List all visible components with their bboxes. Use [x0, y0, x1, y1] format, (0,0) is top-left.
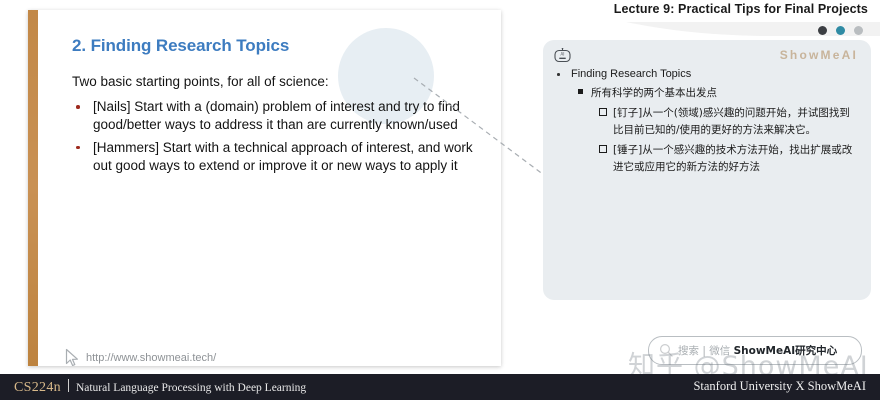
ai-robot-icon: AI	[554, 48, 571, 63]
notes-bullet-square-icon	[578, 89, 583, 94]
status-dots	[818, 26, 870, 38]
slide-title: 2. Finding Research Topics	[72, 36, 289, 56]
slide-bullet-item: [Hammers] Start with a technical approac…	[72, 139, 492, 175]
slide-footer-url[interactable]: http://www.showmeai.tech/	[86, 352, 216, 364]
course-code: CS224n	[14, 380, 61, 396]
slide-accent-bar	[28, 10, 38, 366]
slide-bullet-text: [Nails] Start with a (domain) problem of…	[93, 99, 460, 132]
header-band: Lecture 9: Practical Tips for Final Proj…	[540, 0, 880, 22]
notes-panel: AI ShowMeAI Finding Research Topics 所有科学…	[543, 40, 871, 300]
footer-attribution: Stanford University X ShowMeAI	[693, 379, 866, 394]
notes-level1-text: Finding Research Topics	[571, 68, 691, 80]
notes-bullet-dot-icon	[557, 73, 560, 76]
notes-level3-text: [锤子]从一个感兴趣的技术方法开始，找出扩展或改进它或应用它的新方法的好方法	[613, 144, 852, 173]
notes-level3-item: [钉子]从一个(领域)感兴趣的问题开始，并试图找到比目前已知的/使用的更好的方法…	[543, 105, 871, 139]
bullet-dot-icon	[76, 105, 80, 109]
slide-content: 2. Finding Research Topics Two basic sta…	[38, 10, 501, 366]
notes-level2-text: 所有科学的两个基本出发点	[591, 87, 717, 99]
footer-bar: CS224n Natural Language Processing with …	[0, 374, 880, 400]
showmeai-logo: ShowMeAI	[780, 48, 858, 62]
notes-level3-text: [钉子]从一个(领域)感兴趣的问题开始，并试图找到比目前已知的/使用的更好的方法…	[613, 107, 850, 136]
svg-text:AI: AI	[561, 52, 565, 57]
slide-bullet-text: [Hammers] Start with a technical approac…	[93, 140, 473, 173]
notes-bullet-hollow-square-icon	[599, 108, 607, 116]
lecture-title: Lecture 9: Practical Tips for Final Proj…	[614, 2, 868, 16]
notes-body: Finding Research Topics 所有科学的两个基本出发点 [钉子…	[543, 68, 871, 179]
pointer-cursor-icon	[64, 348, 81, 366]
slide-card: 2. Finding Research Topics Two basic sta…	[28, 10, 501, 366]
dot-dark-icon[interactable]	[818, 26, 827, 35]
notes-level3-item: [锤子]从一个感兴趣的技术方法开始，找出扩展或改进它或应用它的新方法的好方法	[543, 142, 871, 176]
notes-bullet-hollow-square-icon	[599, 145, 607, 153]
slide-bullet-list: [Nails] Start with a (domain) problem of…	[72, 98, 492, 180]
course-subtitle: Natural Language Processing with Deep Le…	[76, 382, 306, 394]
footer-left-group: CS224n Natural Language Processing with …	[14, 378, 306, 396]
notes-level1-item: Finding Research Topics	[543, 68, 871, 80]
slide-lead-text: Two basic starting points, for all of sc…	[72, 74, 329, 89]
bullet-dot-icon	[76, 146, 80, 150]
dot-teal-icon[interactable]	[836, 26, 845, 35]
footer-divider	[68, 379, 69, 392]
notes-level2-item: 所有科学的两个基本出发点	[543, 85, 871, 100]
slide-bullet-item: [Nails] Start with a (domain) problem of…	[72, 98, 492, 134]
screenshot-root: Lecture 9: Practical Tips for Final Proj…	[0, 0, 880, 400]
dot-light-icon[interactable]	[854, 26, 863, 35]
